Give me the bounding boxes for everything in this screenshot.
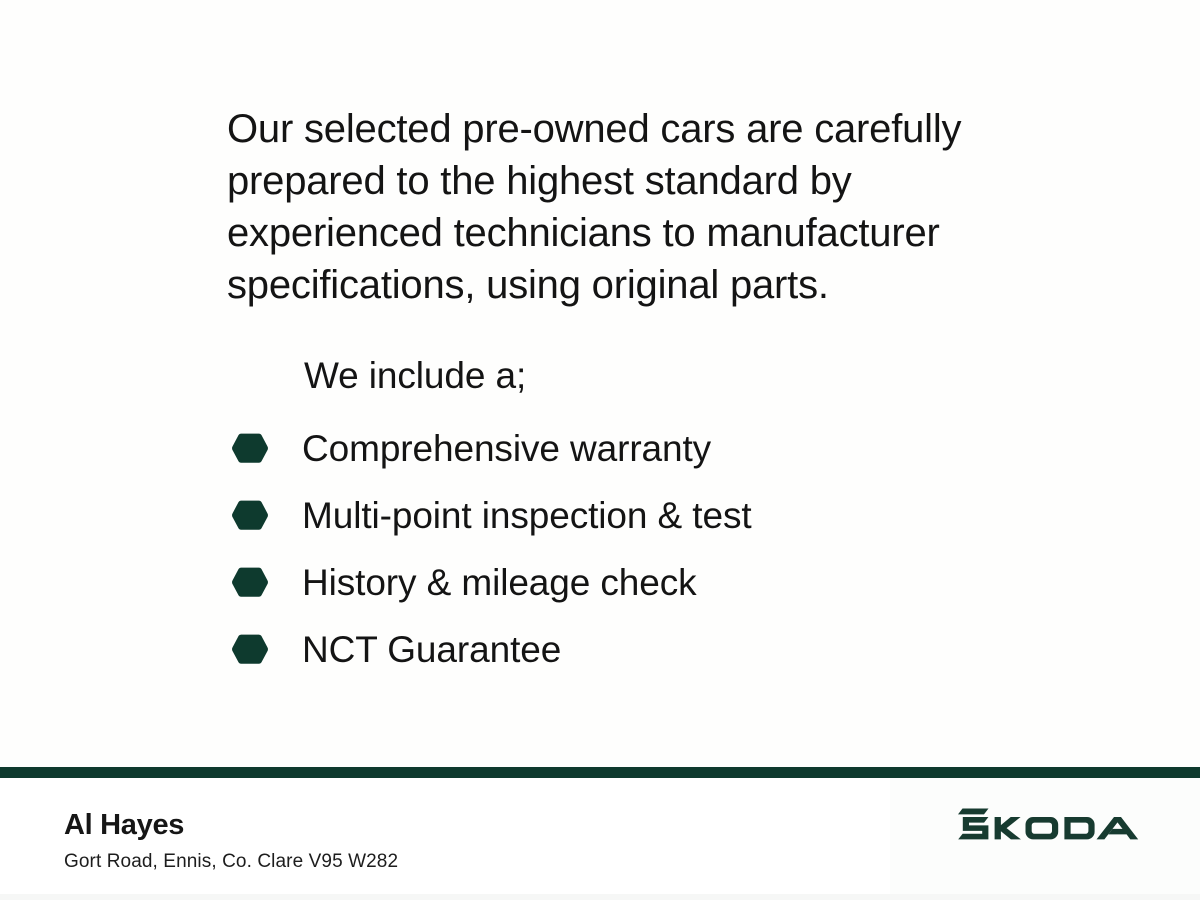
benefit-label: History & mileage check — [302, 561, 697, 605]
hexagon-bullet-icon — [231, 499, 269, 533]
list-item: Multi-point inspection & test — [231, 482, 1011, 549]
list-item: Comprehensive warranty — [231, 415, 1011, 482]
main-content: Our selected pre-owned cars are carefull… — [0, 0, 1200, 767]
footer: Al Hayes Gort Road, Ennis, Co. Clare V95… — [0, 778, 1200, 900]
hexagon-bullet-icon — [231, 633, 269, 667]
list-item: History & mileage check — [231, 549, 1011, 616]
benefits-list: Comprehensive warranty Multi-point inspe… — [231, 415, 1011, 683]
dealer-address: Gort Road, Ennis, Co. Clare V95 W282 — [64, 850, 398, 874]
bottom-edge-hairline — [0, 894, 1200, 900]
skoda-wordmark-logo — [958, 806, 1144, 842]
promo-slide: Our selected pre-owned cars are carefull… — [0, 0, 1200, 900]
hexagon-bullet-icon — [231, 566, 269, 600]
benefit-label: Comprehensive warranty — [302, 427, 711, 471]
list-item: NCT Guarantee — [231, 616, 1011, 683]
dealer-name: Al Hayes — [64, 808, 184, 842]
benefit-label: Multi-point inspection & test — [302, 494, 752, 538]
hexagon-bullet-icon — [231, 432, 269, 466]
footer-divider-bar — [0, 767, 1200, 778]
page-title: Our selected pre-owned cars are carefull… — [227, 103, 1017, 311]
include-lead-text: We include a; — [304, 353, 526, 399]
benefit-label: NCT Guarantee — [302, 628, 561, 672]
